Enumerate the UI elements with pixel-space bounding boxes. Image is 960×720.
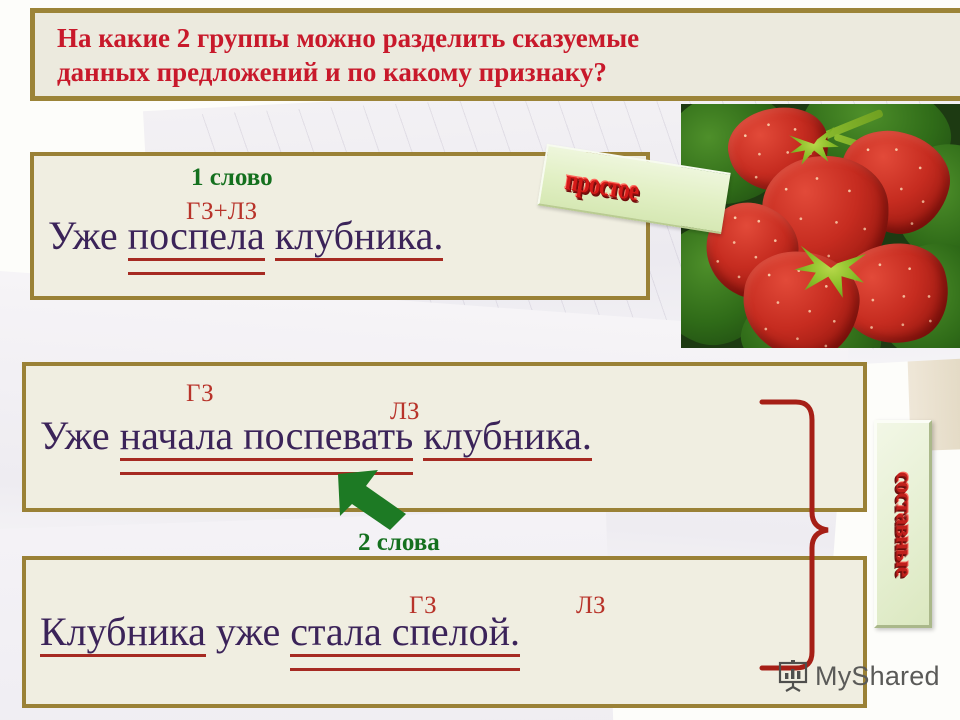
sentence-box-3: ГЗ ЛЗ Клубника уже стала спелой. (22, 556, 867, 708)
sentence-2-word-1-predicate: начала поспевать (120, 414, 414, 458)
sentence-2-text: Уже начала поспевать клубника. (40, 414, 592, 458)
page-title: На какие 2 группы можно разделить сказуе… (57, 21, 945, 89)
sentence-3-word-0-subject: Клубника (40, 610, 206, 654)
compound-predicate-badge-label: составные (890, 472, 917, 577)
sentence-3-word-1: уже (216, 610, 280, 654)
sentence-3-text: Клубника уже стала спелой. (40, 610, 520, 654)
sentence-1-word-2-subject: клубника. (275, 214, 444, 258)
simple-predicate-badge-label: простое (563, 164, 641, 208)
sentence-1-word-0: Уже (48, 214, 118, 258)
sentence-2-word-0: Уже (40, 414, 110, 458)
sentence-1-word-1-predicate: поспела (128, 214, 265, 258)
sentence-1-word-count-label: 1 слово (191, 164, 273, 192)
sentence-1-text: Уже поспела клубника. (48, 214, 443, 258)
presentation-board-icon (778, 660, 808, 692)
sentence-2-gz-label: ГЗ (186, 380, 214, 408)
compound-predicate-badge: составные (874, 420, 932, 628)
sentence-3-word-2-predicate: стала спелой. (290, 610, 520, 654)
sentence-group-word-count-label: 2 слова (358, 529, 440, 557)
myshared-watermark-label: MyShared (815, 661, 940, 692)
myshared-watermark: MyShared (778, 660, 940, 692)
slide-canvas: На какие 2 группы можно разделить сказуе… (0, 0, 960, 720)
sentence-2-word-2-subject: клубника. (423, 414, 592, 458)
sentence-box-2: ГЗ ЛЗ Уже начала поспевать клубника. (22, 362, 867, 512)
arrow-up-left-icon (334, 466, 416, 532)
curly-brace-bracket (750, 390, 890, 680)
sentence-3-lz-label: ЛЗ (576, 592, 605, 620)
strawberry-photo (681, 104, 960, 348)
question-title-box: На какие 2 группы можно разделить сказуе… (30, 8, 960, 101)
